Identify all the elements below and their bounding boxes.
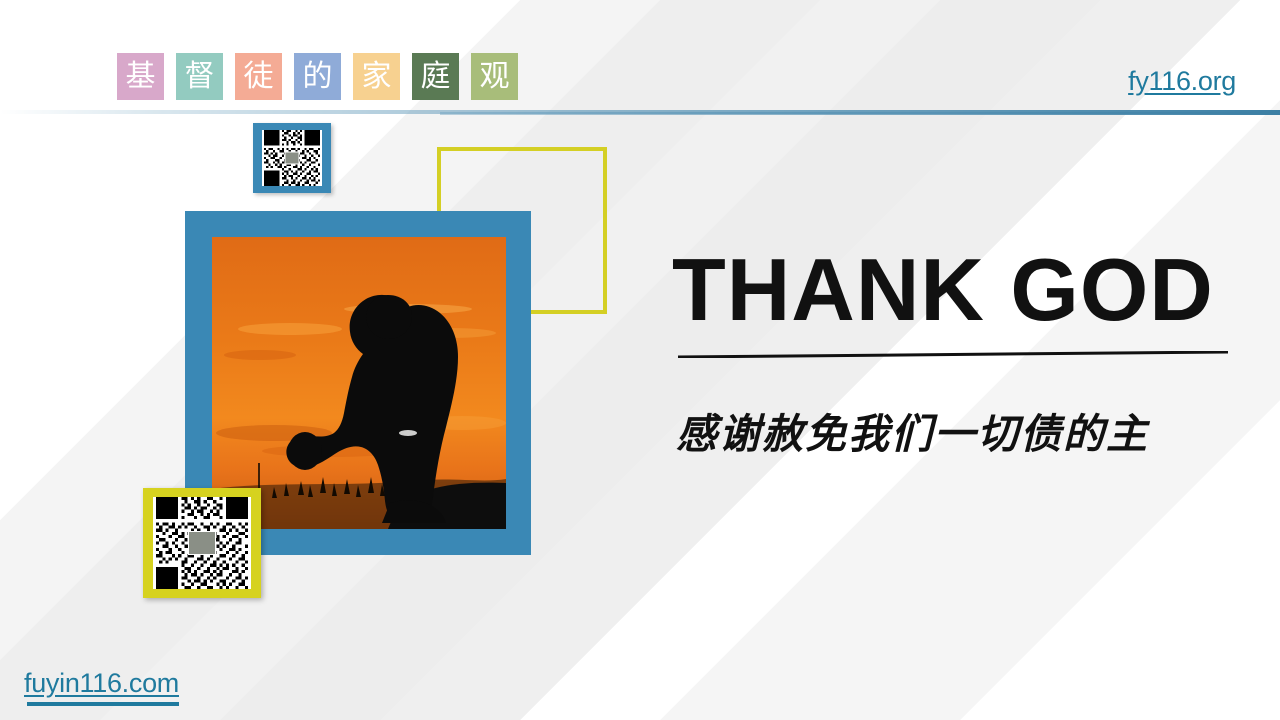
tile-char-4: 的 — [303, 62, 333, 92]
header-divider-accent — [440, 112, 1280, 115]
header-site-link[interactable]: fy116.org — [1128, 66, 1236, 97]
main-title: THANK GOD — [672, 246, 1214, 334]
tile-6: 庭 — [412, 53, 459, 100]
footer-site-link[interactable]: fuyin116.com — [24, 668, 179, 699]
tile-4: 的 — [294, 53, 341, 100]
qr-code-large-logo — [188, 531, 216, 555]
footer-underline — [27, 702, 179, 706]
slide-canvas: 基 督 徒 的 家 庭 观 fy116.org — [0, 0, 1280, 720]
qr-code-small[interactable] — [253, 123, 331, 193]
tile-7: 观 — [471, 53, 518, 100]
qr-code-large-pattern — [153, 497, 251, 589]
tile-char-7: 观 — [480, 62, 510, 92]
qr-code-large[interactable] — [143, 488, 261, 598]
tile-char-3: 徒 — [244, 62, 274, 92]
title-character-tiles: 基 督 徒 的 家 庭 观 — [117, 53, 518, 100]
tile-char-6: 庭 — [421, 62, 451, 92]
title-underline-rule — [678, 351, 1228, 358]
tile-5: 家 — [353, 53, 400, 100]
subtitle: 感谢赦免我们一切债的主 — [676, 400, 1149, 460]
prayer-photo — [212, 237, 506, 529]
tile-1: 基 — [117, 53, 164, 100]
tile-3: 徒 — [235, 53, 282, 100]
tile-char-5: 家 — [362, 62, 392, 92]
tile-2: 督 — [176, 53, 223, 100]
tile-char-2: 督 — [185, 62, 215, 92]
qr-code-small-logo — [285, 152, 300, 165]
qr-code-small-pattern — [262, 130, 322, 186]
tile-char-1: 基 — [126, 62, 156, 92]
